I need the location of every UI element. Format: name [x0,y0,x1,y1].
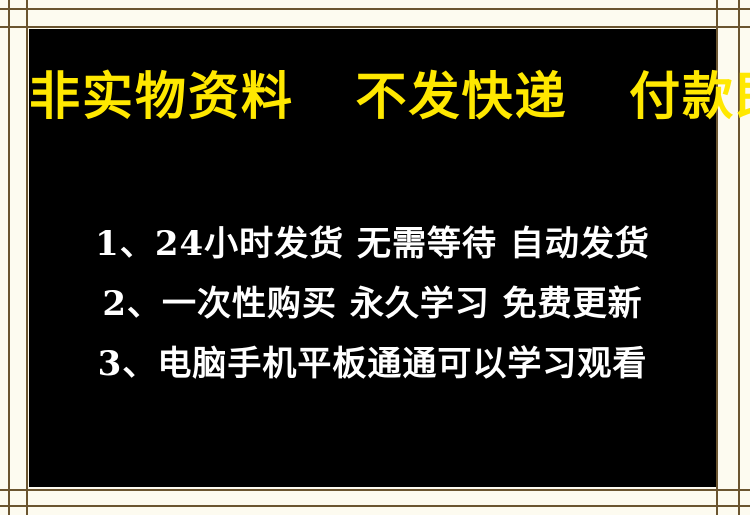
content-panel: 非实物资料 不发快递 付款即看 1、24小时发货 无需等待 自动发货 2、一次性… [29,29,716,487]
headline-segment-3: 付款即看 [629,67,750,127]
frame-line-top-outer [0,8,750,10]
headline: 非实物资料 不发快递 付款即看 [29,67,716,127]
list-item: 2、一次性购买 永久学习 免费更新 [29,274,716,334]
frame-line-left-outer [8,0,10,515]
frame-line-left-inner [26,0,28,515]
headline-segment-1: 非实物资料 [29,67,294,127]
frame-line-bottom-inner [0,489,750,491]
poster-canvas: 非实物资料 不发快递 付款即看 1、24小时发货 无需等待 自动发货 2、一次性… [0,0,750,515]
list-item: 3、电脑手机平板通通可以学习观看 [29,334,716,394]
frame-line-top-inner [0,26,750,28]
body-list: 1、24小时发货 无需等待 自动发货 2、一次性购买 永久学习 免费更新 3、电… [29,214,716,394]
list-item: 1、24小时发货 无需等待 自动发货 [29,214,716,274]
headline-segment-2: 不发快递 [356,67,568,127]
frame-line-bottom-outer [0,505,750,507]
